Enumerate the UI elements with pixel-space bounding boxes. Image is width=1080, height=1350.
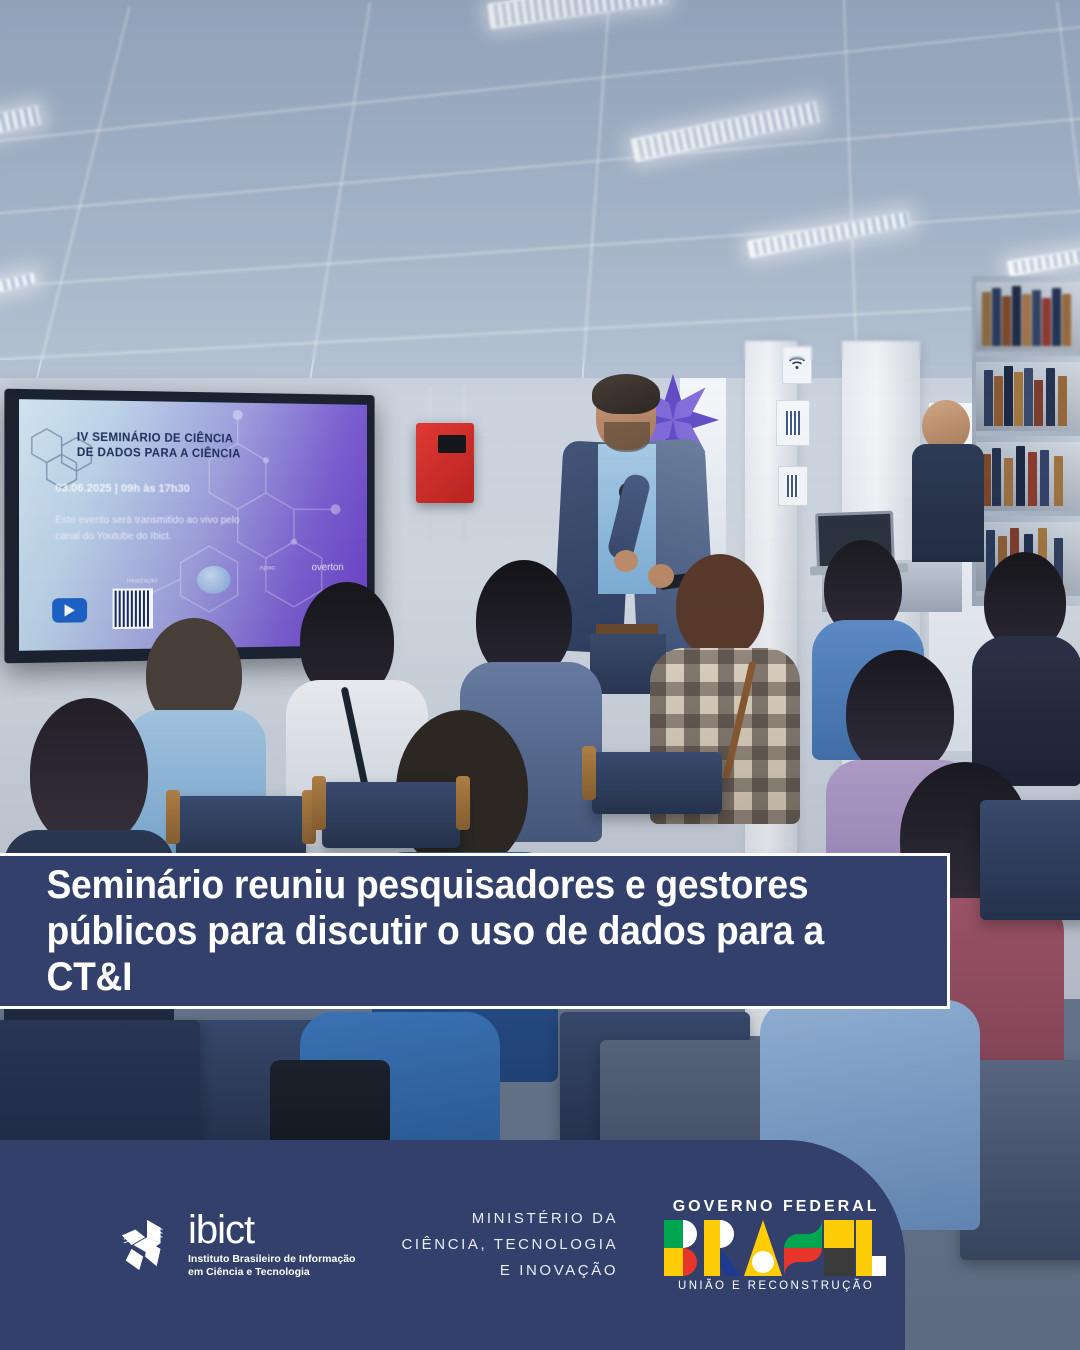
- fire-alarm-panel: [416, 423, 474, 503]
- audience: [0, 500, 1080, 1200]
- ceiling-light: [0, 270, 38, 313]
- ceiling-light: [0, 104, 43, 157]
- ibict-tagline: Instituto Brasileiro de Informação em Ci…: [188, 1253, 355, 1279]
- social-media-poster: IV SEMINÁRIO DE CIÊNCIA DE DADOS PARA A …: [0, 0, 1080, 1350]
- ibict-wordmark: ibict: [188, 1211, 355, 1249]
- qr-poster: [776, 400, 810, 446]
- page-title: Seminário reuniu pesquisadores e gestore…: [0, 862, 881, 1000]
- ministry-text: MINISTÉRIO DA CIÊNCIA, TECNOLOGIA E INOV…: [401, 1206, 618, 1285]
- governo-federal-label: GOVERNO FEDERAL: [673, 1198, 880, 1216]
- governo-federal-logo: GOVERNO FEDERAL: [664, 1198, 888, 1292]
- slide-date: 03.06.2025 | 09h às 17h30: [55, 482, 190, 495]
- audience-member: [30, 698, 148, 848]
- ministry-line-1: MINISTÉRIO DA: [401, 1206, 618, 1232]
- ibict-mark-icon: [118, 1216, 176, 1274]
- ceiling-light: [1006, 235, 1080, 277]
- chair: [980, 800, 1080, 920]
- governo-federal-slogan: UNIÃO E RECONSTRUÇÃO: [678, 1280, 874, 1292]
- chair: [322, 782, 460, 848]
- headline-band: Seminário reuniu pesquisadores e gestore…: [0, 853, 950, 1009]
- ceiling-light: [630, 100, 821, 163]
- brasil-wordmark: [664, 1220, 888, 1276]
- wifi-sign: [782, 346, 812, 384]
- headline-line-2: públicos para discutir o uso de dados pa…: [47, 909, 824, 999]
- ceiling-light: [487, 0, 669, 29]
- ibict-logo: ibict Instituto Brasileiro de Informação…: [118, 1211, 355, 1279]
- audience-member: [846, 650, 954, 776]
- ceiling-light: [747, 209, 912, 258]
- ministry-line-3: E INOVAÇÃO: [401, 1258, 618, 1284]
- slide-title: IV SEMINÁRIO DE CIÊNCIA DE DADOS PARA A …: [77, 430, 241, 463]
- ministry-line-2: CIÊNCIA, TECNOLOGIA: [401, 1232, 618, 1258]
- chair: [592, 752, 722, 814]
- audience-member: [972, 636, 1080, 786]
- headline-line-1: Seminário reuniu pesquisadores e gestore…: [47, 863, 809, 907]
- footer-bar: ibict Instituto Brasileiro de Informação…: [0, 1140, 905, 1350]
- wifi-icon: [788, 356, 806, 370]
- audience-member: [676, 554, 764, 658]
